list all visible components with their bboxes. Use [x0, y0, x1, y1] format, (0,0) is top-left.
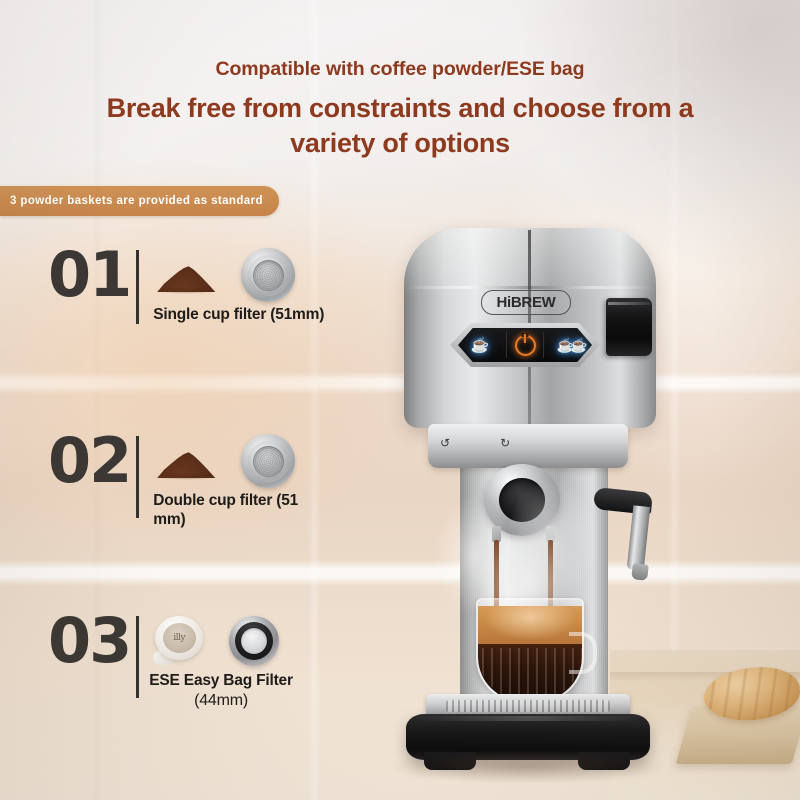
ese-bag-filter-basket-icon [229, 616, 279, 666]
feature-images [153, 432, 333, 490]
feature-number: 01 [48, 246, 130, 303]
double-cup-button[interactable]: ☕☕ [552, 332, 588, 358]
unlock-icon: ↺ [440, 436, 450, 450]
feature-body: Double cup filter (51 mm) [153, 432, 333, 530]
feature-number: 03 [48, 612, 130, 669]
feature-body: illy ESE Easy Bag Filter (44mm) [153, 612, 293, 710]
pod-brand-mark: illy [163, 623, 196, 653]
control-panel: ☕ ☕☕ [458, 328, 592, 362]
machine-head-band [406, 286, 654, 289]
basket-rim [248, 441, 289, 482]
single-cup-filter-basket-icon [241, 248, 295, 302]
feature-label-line1: ESE Easy Bag Filter [149, 672, 293, 691]
side-knob[interactable] [606, 298, 652, 356]
power-button-icon [515, 335, 536, 356]
double-cup-button-icon: ☕☕ [557, 338, 584, 352]
basket-rim [248, 255, 289, 296]
cup-glass [476, 598, 584, 703]
shelf-lock-markings: ↺ ↻ [440, 436, 590, 450]
headline-subtitle: Compatible with coffee powder/ESE bag [0, 58, 800, 81]
basket-mesh [241, 628, 267, 654]
headline-block: Compatible with coffee powder/ESE bag Br… [0, 58, 800, 160]
feature-row-02: 02 Double cup filter (51 mm) [48, 432, 333, 530]
basket-mesh [253, 260, 284, 291]
feature-row-03: 03 illy ESE Easy Bag Filter (44mm) [48, 612, 293, 710]
status-badge: 3 powder baskets are provided as standar… [0, 186, 279, 216]
basket-rim [235, 622, 273, 660]
steam-wand-tip [631, 563, 649, 581]
espresso-glass-cup [476, 598, 584, 703]
group-head-interior [499, 478, 545, 522]
feature-divider [136, 436, 139, 518]
cup-crema [478, 606, 582, 644]
brand-logo: HiBREW [481, 290, 571, 315]
coffee-powder-pile-icon [153, 442, 219, 480]
basket-mesh [253, 446, 284, 477]
ese-paper-pod-icon: illy [153, 616, 207, 666]
feature-label: Single cup filter (51mm) [153, 306, 324, 325]
cup-handle [569, 632, 597, 674]
feature-divider [136, 250, 139, 324]
feature-row-01: 01 Single cup filter (51mm) [48, 246, 324, 325]
steam-wand-tube [627, 505, 651, 570]
power-button[interactable] [506, 332, 544, 358]
product-infographic: Compatible with coffee powder/ESE bag Br… [0, 0, 800, 800]
status-badge-label: 3 powder baskets are provided as standar… [10, 195, 263, 207]
feature-body: Single cup filter (51mm) [153, 246, 324, 325]
headline-title: Break free from constraints and choose f… [0, 91, 800, 160]
coffee-powder-pile-icon [153, 256, 219, 294]
feature-label-line2: (44mm) [149, 691, 293, 711]
machine-shadow [388, 750, 666, 784]
lock-icon: ↻ [500, 436, 510, 450]
feature-divider [136, 616, 139, 698]
feature-images: illy [153, 612, 293, 670]
drip-tray-grate [446, 700, 610, 712]
pod-paper: illy [155, 616, 203, 660]
double-cup-filter-basket-icon [241, 434, 295, 488]
feature-label: ESE Easy Bag Filter (44mm) [149, 672, 293, 710]
single-cup-button[interactable]: ☕ [462, 332, 498, 358]
single-cup-button-icon: ☕ [471, 338, 490, 353]
feature-label: Double cup filter (51 mm) [153, 492, 333, 530]
feature-images [153, 246, 324, 304]
feature-number: 02 [48, 432, 130, 489]
espresso-machine: HiBREW ☕ ☕☕ ↺ ↻ [388, 228, 666, 768]
